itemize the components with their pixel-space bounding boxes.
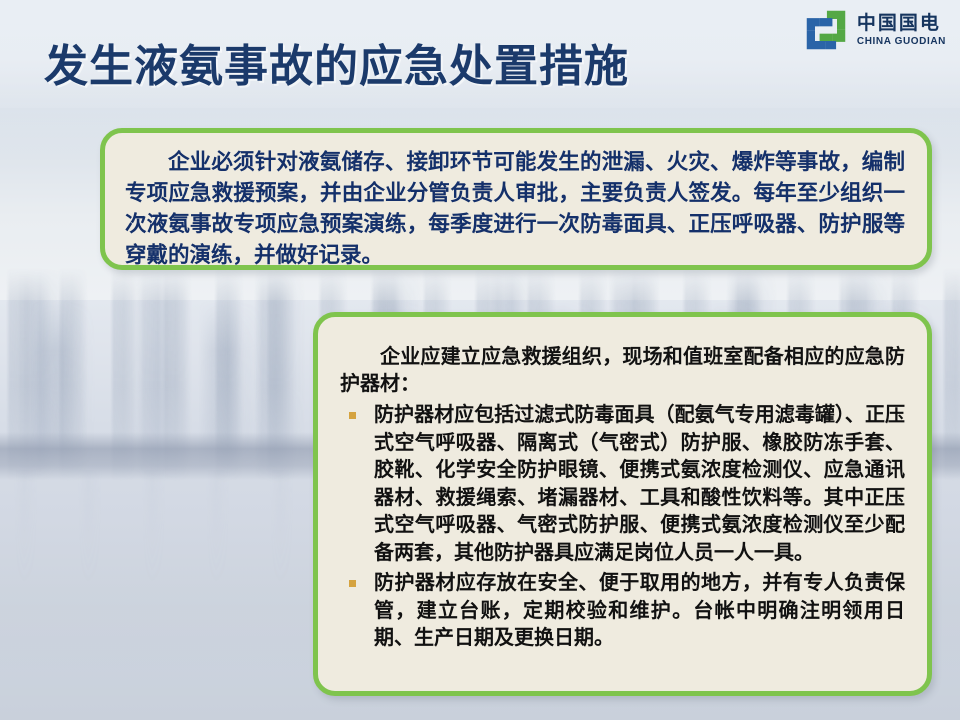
guodian-logo-icon (803, 8, 849, 52)
list-item-text: 防护器材应存放在安全、便于取用的地方，并有专人负责保管，建立台账，定期校验和维护… (374, 570, 905, 649)
logo-name-cn: 中国国电 (857, 14, 946, 33)
page-title: 发生液氨事故的应急处置措施 (44, 30, 629, 94)
box1-paragraph: 企业必须针对液氨储存、接卸环节可能发生的泄漏、火灾、爆炸等事故，编制专项应急救援… (125, 147, 905, 271)
slide-canvas: 发生液氨事故的应急处置措施 中国国电 CHINA GUODIAN 企业必须针对液… (0, 0, 960, 720)
box2-lead-paragraph: 企业应建立应急救援组织，现场和值班室配备相应的应急防护器材： (340, 343, 905, 397)
bullet-square-icon (349, 580, 356, 587)
logo-name-en: CHINA GUODIAN (857, 37, 946, 47)
bullet-square-icon (349, 412, 356, 419)
brand-logo: 中国国电 CHINA GUODIAN (803, 8, 946, 52)
list-item: 防护器材应包括过滤式防毒面具（配氨气专用滤毒罐）、正压式空气呼吸器、隔离式（气密… (340, 401, 905, 566)
list-item-text: 防护器材应包括过滤式防毒面具（配氨气专用滤毒罐）、正压式空气呼吸器、隔离式（气密… (374, 402, 905, 564)
content-box-primary: 企业必须针对液氨储存、接卸环节可能发生的泄漏、火灾、爆炸等事故，编制专项应急救援… (100, 128, 932, 270)
box2-bullet-list: 防护器材应包括过滤式防毒面具（配氨气专用滤毒罐）、正压式空气呼吸器、隔离式（气密… (340, 401, 905, 652)
list-item: 防护器材应存放在安全、便于取用的地方，并有专人负责保管，建立台账，定期校验和维护… (340, 569, 905, 652)
content-box-secondary: 企业应建立应急救援组织，现场和值班室配备相应的应急防护器材： 防护器材应包括过滤… (313, 312, 932, 696)
logo-wordmark: 中国国电 CHINA GUODIAN (857, 14, 946, 47)
